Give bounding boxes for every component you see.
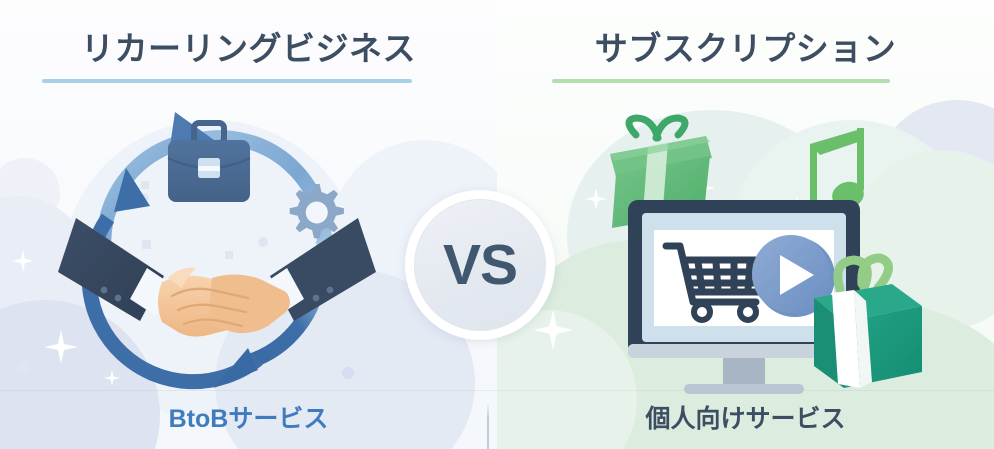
- right-panel-title: サブスクリプション: [497, 22, 994, 70]
- decorative-square: [19, 363, 28, 372]
- left-title-underline: [42, 79, 412, 83]
- left-panel-title: リカーリングビジネス: [0, 22, 497, 70]
- vs-badge-label: VS: [443, 237, 517, 294]
- vs-badge: VS: [405, 190, 555, 340]
- infographic-canvas: リカーリングビジネス サブスクリプション VS BtoBサービス 個人向けサービ…: [0, 0, 994, 449]
- gear-icon: [290, 184, 344, 238]
- vs-badge-circle: VS: [414, 199, 546, 331]
- subscription-illustration: [592, 112, 922, 402]
- right-panel-caption: 個人向けサービス: [497, 399, 994, 435]
- center-divider: [487, 402, 489, 449]
- left-panel-caption: BtoBサービス: [0, 399, 497, 435]
- recurring-business-illustration: [62, 96, 372, 396]
- right-title-underline: [552, 79, 890, 83]
